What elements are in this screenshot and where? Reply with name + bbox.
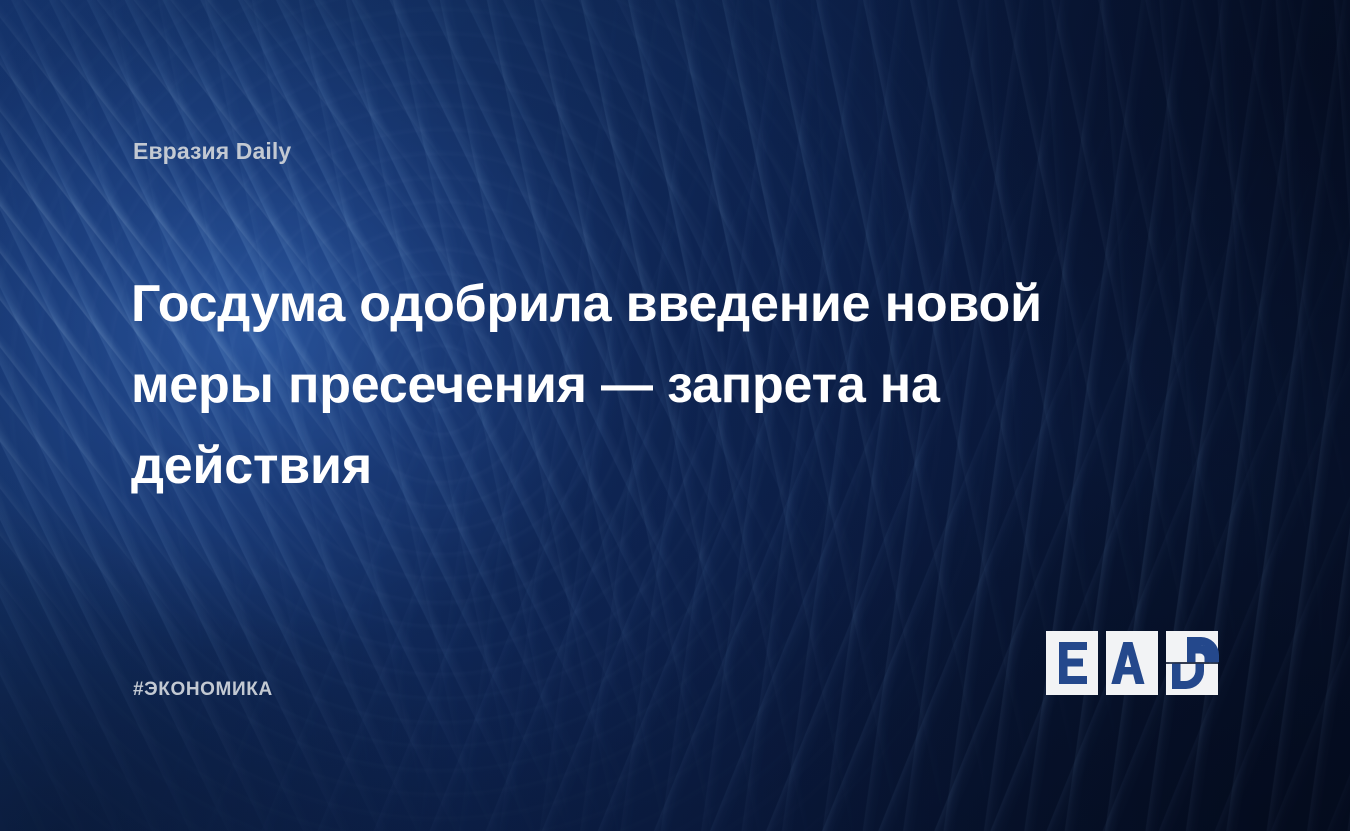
news-share-card: Евразия Daily Госдума одобрила введение … (0, 0, 1350, 831)
logo-letter-e (1059, 642, 1087, 684)
article-headline: Госдума одобрила введение новой меры пре… (131, 264, 1111, 507)
card-content: Евразия Daily Госдума одобрила введение … (0, 0, 1350, 831)
site-brand-label: Евразия Daily (133, 138, 291, 165)
category-hashtag: #ЭКОНОМИКА (133, 679, 273, 701)
ead-logo (1046, 631, 1219, 695)
